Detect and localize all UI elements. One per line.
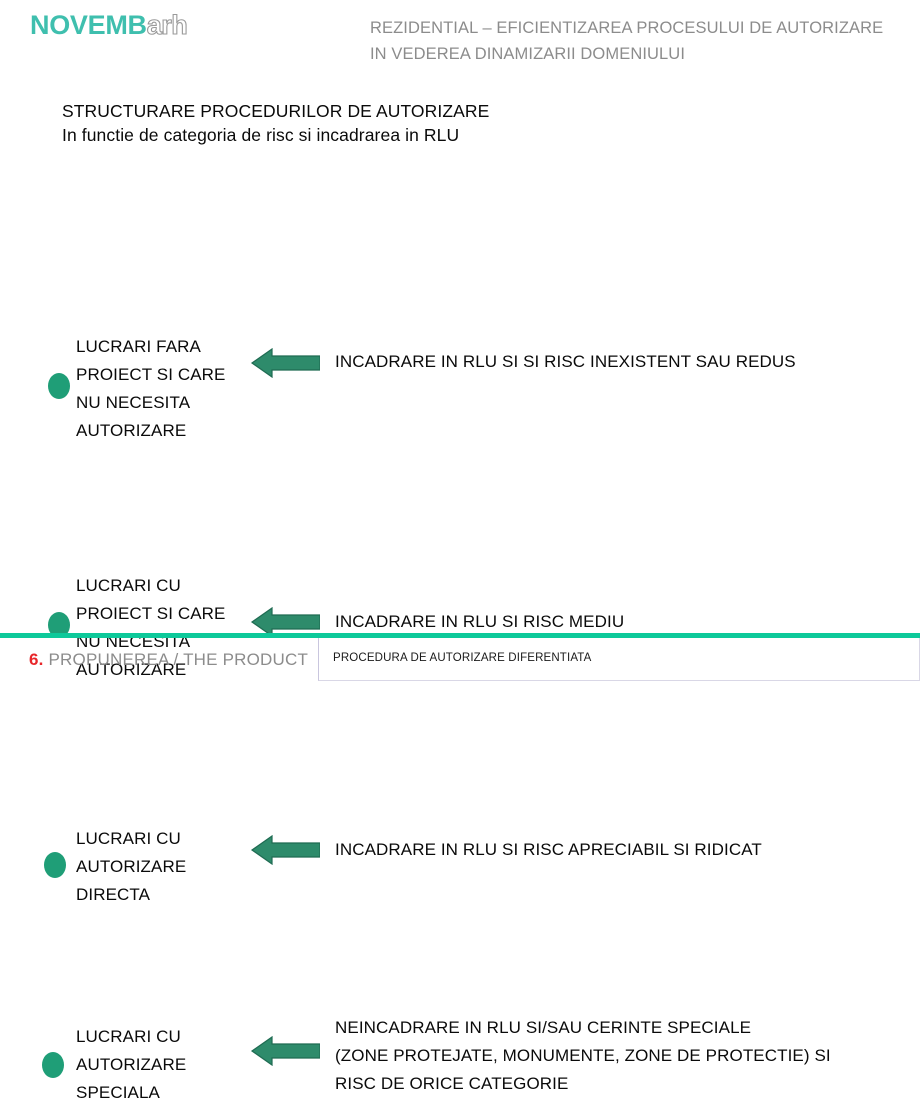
- procedure-description: INCADRARE IN RLU SI RISC MEDIU: [335, 608, 624, 636]
- brand-logo-primary: NOVEMB: [30, 10, 147, 40]
- bullet-ellipse-icon: [48, 373, 70, 399]
- footer-caption-text: PROCEDURA DE AUTORIZARE DIFERENTIATA: [333, 650, 591, 666]
- brand-logo: NOVEMBarh: [30, 9, 187, 41]
- procedure-description: INCADRARE IN RLU SI RISC APRECIABIL SI R…: [335, 836, 762, 864]
- slide-header: NOVEMBarh REZIDENTIAL – EFICIENTIZAREA P…: [0, 0, 920, 88]
- procedure-category-label: LUCRARI CU AUTORIZARE DIRECTA: [76, 825, 186, 909]
- procedure-description: INCADRARE IN RLU SI SI RISC INEXISTENT S…: [335, 348, 796, 376]
- footer-section-label: PROPUNEREA / THE PRODUCT: [49, 650, 309, 669]
- footer-caption-box: PROCEDURA DE AUTORIZARE DIFERENTIATA: [318, 638, 920, 681]
- bullet-ellipse-icon: [42, 1052, 64, 1078]
- footer-section-title: 6. PROPUNEREA / THE PRODUCT: [29, 648, 308, 672]
- procedure-category-label: LUCRARI FARA PROIECT SI CARE NU NECESITA…: [76, 333, 226, 445]
- brand-logo-secondary: arh: [147, 10, 188, 40]
- bullet-ellipse-icon: [44, 852, 66, 878]
- left-arrow-icon: [250, 348, 320, 378]
- slide-header-title: REZIDENTIAL – EFICIENTIZAREA PROCESULUI …: [370, 15, 900, 67]
- subtitle-block: STRUCTURARE PROCEDURILOR DE AUTORIZARE I…: [62, 99, 682, 147]
- subtitle-subheading: In functie de categoria de risc si incad…: [62, 123, 682, 147]
- footer-section-number: 6.: [29, 650, 44, 669]
- left-arrow-icon: [250, 1036, 320, 1066]
- procedure-description: NEINCADRARE IN RLU SI/SAU CERINTE SPECIA…: [335, 1014, 831, 1098]
- procedure-category-label: LUCRARI CU AUTORIZARE SPECIALA: [76, 1023, 186, 1107]
- subtitle-heading: STRUCTURARE PROCEDURILOR DE AUTORIZARE: [62, 99, 682, 123]
- left-arrow-icon: [250, 835, 320, 865]
